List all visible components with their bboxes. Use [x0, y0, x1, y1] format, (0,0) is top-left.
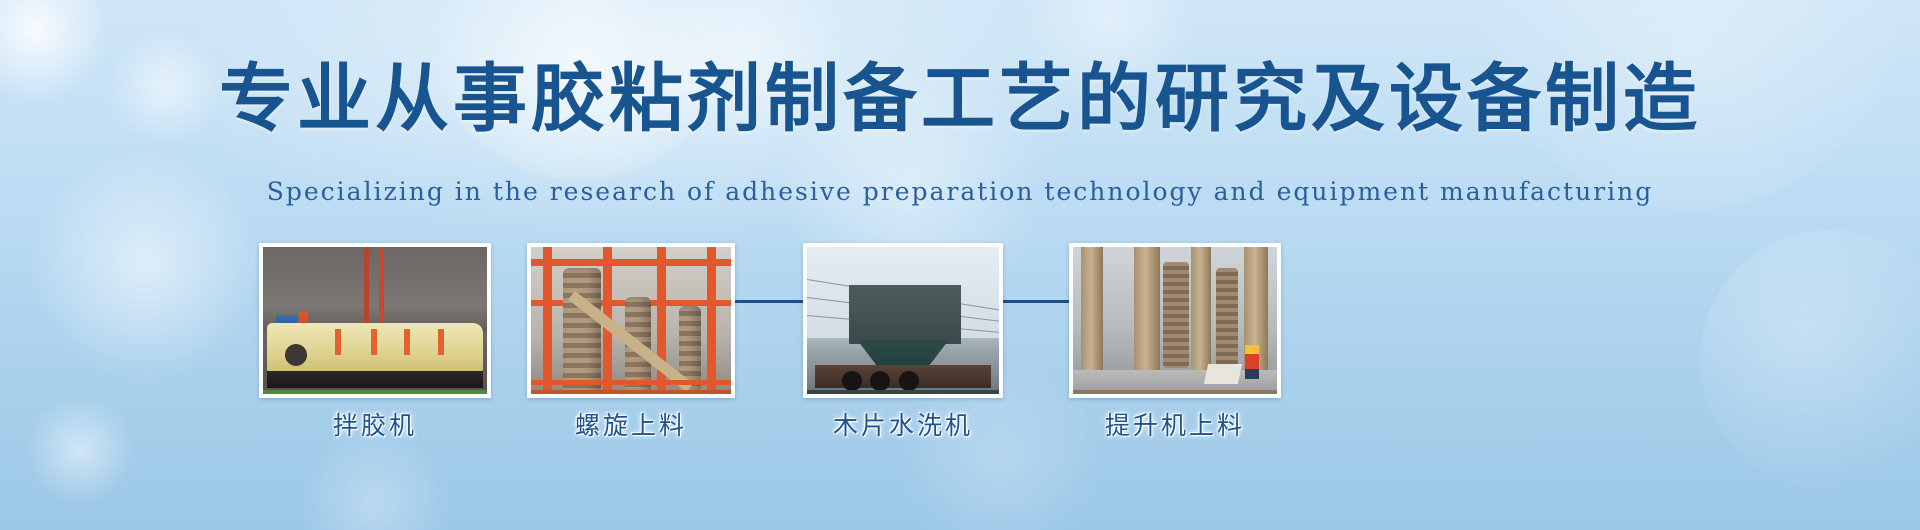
banner-headline: 专业从事胶粘剂制备工艺的研究及设备制造	[0, 57, 1920, 141]
gallery-thumb-4[interactable]	[1069, 243, 1281, 398]
wood-chip-washing-machine-photo	[807, 247, 999, 394]
gallery-caption-3: 木片水洗机	[803, 411, 1003, 441]
gallery-item-1[interactable]: 拌胶机	[259, 243, 491, 398]
thumb-edge-3	[807, 390, 999, 394]
thumb-edge-4	[1073, 390, 1277, 394]
gallery-caption-2: 螺旋上料	[527, 411, 735, 441]
thumb-edge-1	[263, 390, 487, 394]
bokeh-circle-11	[300, 430, 450, 530]
gallery-thumb-2[interactable]	[527, 243, 735, 398]
banner-subtitle: Specializing in the research of adhesive…	[0, 176, 1920, 208]
gallery-thumb-3[interactable]	[803, 243, 1003, 398]
gallery-caption-4: 提升机上料	[1069, 411, 1281, 441]
gallery-item-4[interactable]: 提升机上料	[1069, 243, 1281, 398]
glue-mixer-machine-photo	[263, 247, 487, 394]
equipment-gallery: 拌胶机 螺旋上料	[0, 243, 1920, 443]
promo-banner: 专业从事胶粘剂制备工艺的研究及设备制造 Specializing in the …	[0, 0, 1920, 530]
gallery-item-2[interactable]: 螺旋上料	[527, 243, 735, 398]
gallery-caption-1: 拌胶机	[259, 411, 491, 441]
screw-conveyor-feeding-photo	[531, 247, 731, 394]
gallery-item-3[interactable]: 木片水洗机	[803, 243, 1003, 398]
thumb-edge-2	[531, 390, 731, 394]
bucket-elevator-feeding-photo	[1073, 247, 1277, 394]
gallery-thumb-1[interactable]	[259, 243, 491, 398]
